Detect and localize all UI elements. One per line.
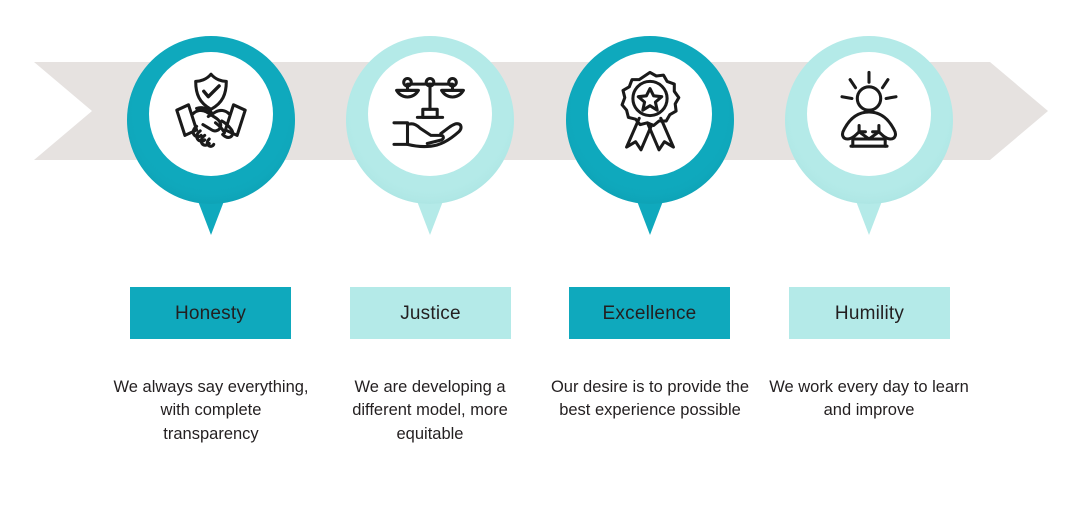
pins-row	[0, 0, 1080, 250]
pin-humility[interactable]	[779, 30, 959, 245]
meditating-person-rays-icon	[824, 67, 914, 157]
value-label-text: Excellence	[603, 304, 697, 323]
pin-honesty[interactable]	[121, 30, 301, 245]
value-label-text: Justice	[400, 304, 461, 323]
handshake-shield-icon	[166, 67, 256, 157]
value-label-honesty[interactable]: Honesty	[130, 287, 291, 339]
pin-justice[interactable]	[340, 30, 520, 245]
value-description-excellence: Our desire is to provide the best experi…	[550, 376, 750, 423]
value-labels-row: Honesty Justice Excellence Humility	[0, 287, 1080, 339]
scales-on-hand-icon	[385, 67, 475, 157]
value-label-text: Honesty	[175, 304, 246, 323]
value-description-honesty: We always say everything, with complete …	[111, 376, 311, 446]
value-description-justice: We are developing a different model, mor…	[330, 376, 530, 446]
award-rosette-star-icon	[605, 67, 695, 157]
core-values-infographic: Honesty Justice Excellence Humility We a…	[0, 0, 1080, 512]
value-label-excellence[interactable]: Excellence	[569, 287, 730, 339]
value-description-humility: We work every day to learn and improve	[769, 376, 969, 423]
value-label-text: Humility	[835, 304, 904, 323]
value-descriptions-row: We always say everything, with complete …	[0, 376, 1080, 486]
value-label-humility[interactable]: Humility	[789, 287, 950, 339]
value-label-justice[interactable]: Justice	[350, 287, 511, 339]
pin-excellence[interactable]	[560, 30, 740, 245]
